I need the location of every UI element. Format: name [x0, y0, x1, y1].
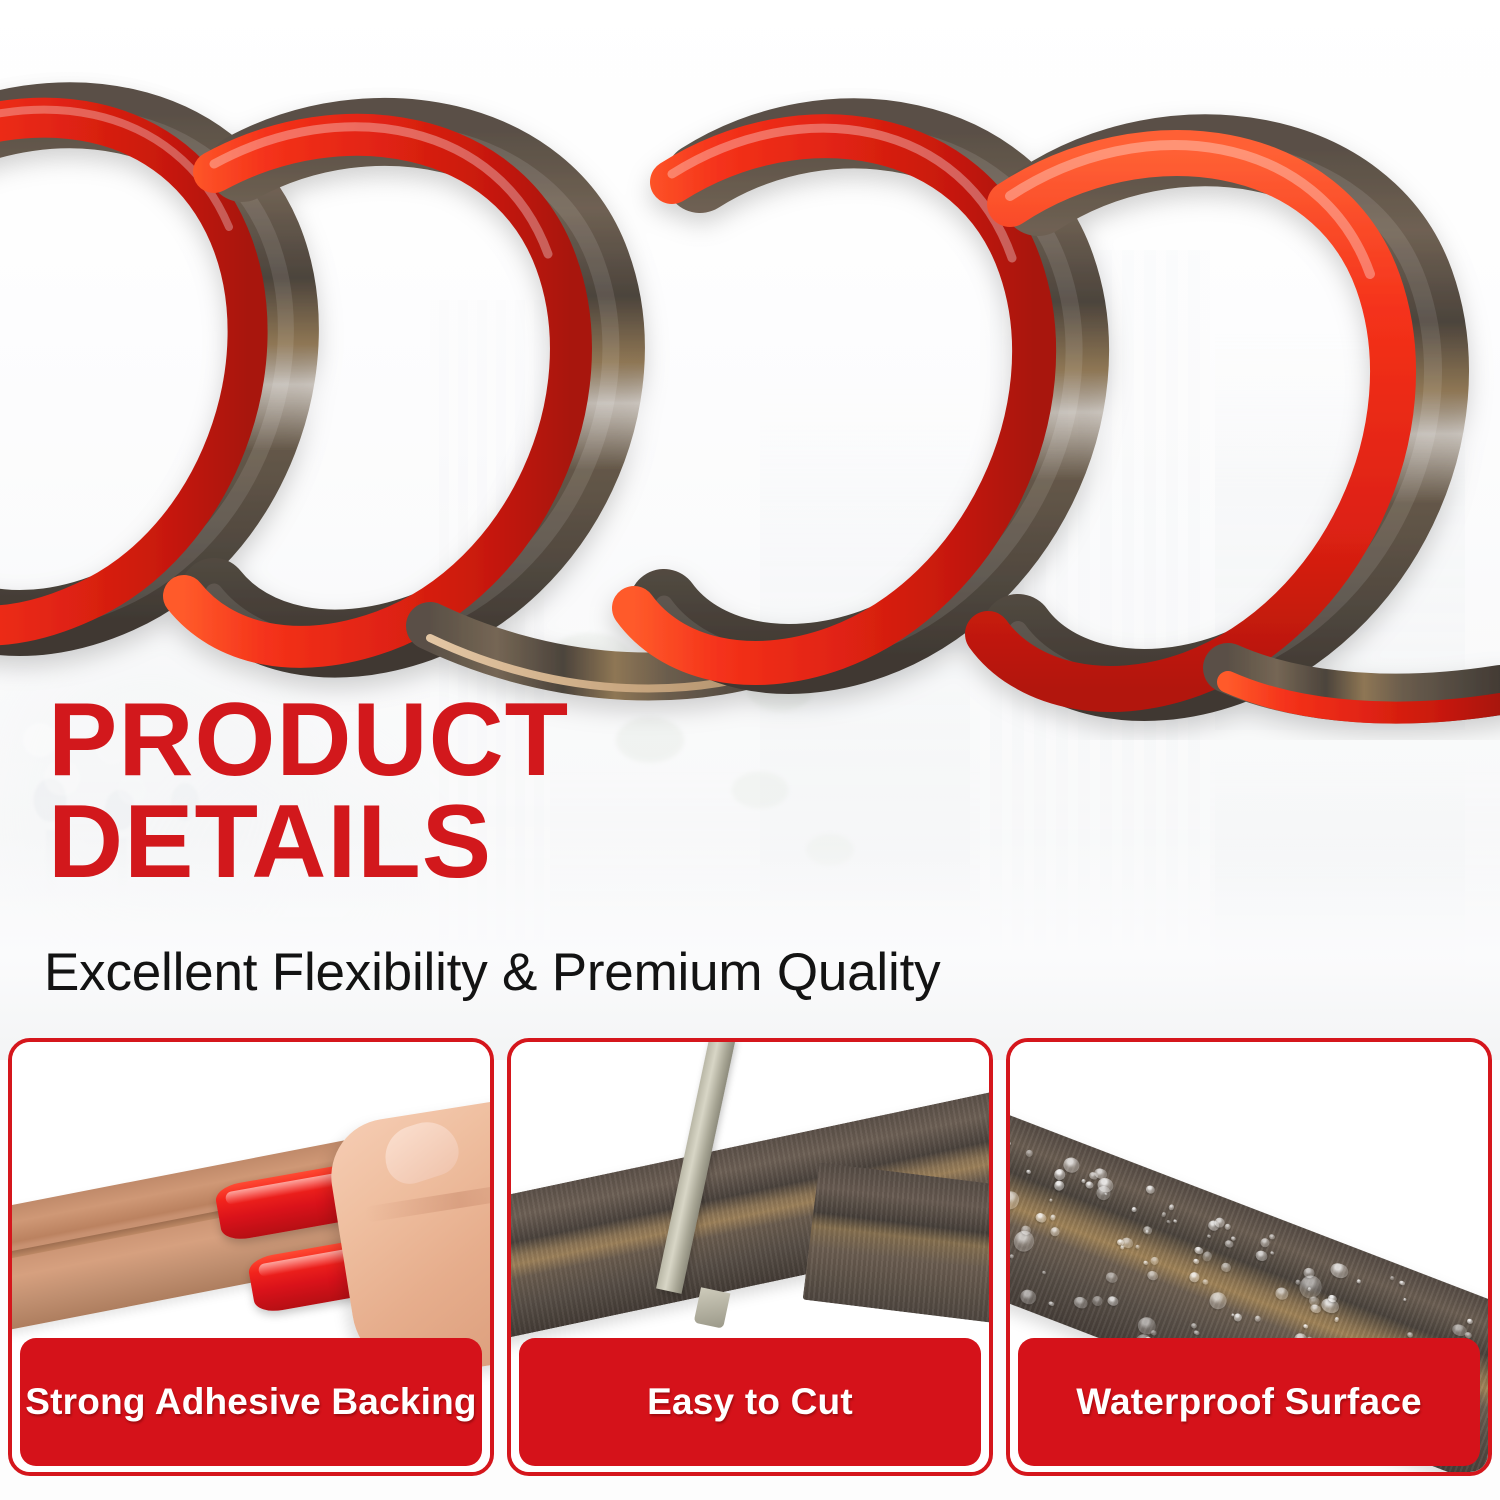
water-droplet — [1403, 1298, 1407, 1301]
water-droplet — [1334, 1317, 1340, 1323]
page-subtitle: Excellent Flexibility & Premium Quality — [44, 942, 940, 1003]
water-droplet — [1168, 1204, 1175, 1211]
hero-coil-image — [0, 0, 1500, 740]
water-droplet — [1356, 1279, 1361, 1283]
feature-panel-row: Strong Adhesive Backing Easy to Cut — [8, 1038, 1492, 1476]
water-droplet — [1042, 1271, 1046, 1275]
water-droplet — [1161, 1211, 1167, 1217]
scissors-blade-tip — [694, 1287, 731, 1328]
water-droplet — [1025, 1149, 1034, 1158]
water-droplet — [1487, 1415, 1488, 1421]
water-droplet — [1273, 1286, 1290, 1302]
water-droplet — [1220, 1261, 1232, 1273]
water-droplet — [1049, 1226, 1061, 1238]
water-droplet — [1329, 1261, 1350, 1280]
wood-grain-strip-right — [803, 1163, 989, 1337]
page-title: PRODUCT DETAILS — [48, 690, 1228, 894]
water-droplet — [1207, 1290, 1229, 1312]
water-droplet — [1048, 1300, 1055, 1306]
water-droplet — [1106, 1295, 1119, 1308]
feature-panel-cut[interactable]: Easy to Cut — [507, 1038, 993, 1476]
water-droplet — [1487, 1426, 1488, 1437]
infographic-canvas: PRODUCT DETAILS Excellent Flexibility & … — [0, 0, 1500, 1500]
water-droplet — [1010, 1141, 1011, 1145]
water-droplet — [1202, 1250, 1214, 1262]
water-droplet — [1085, 1180, 1095, 1189]
water-droplet — [1142, 1225, 1153, 1236]
water-droplet — [1268, 1234, 1275, 1241]
water-droplet — [1466, 1318, 1474, 1325]
water-droplet — [1254, 1315, 1262, 1323]
water-droplet — [1135, 1244, 1140, 1249]
feature-panel-adhesive[interactable]: Strong Adhesive Backing — [8, 1038, 494, 1476]
water-droplet — [1026, 1169, 1032, 1175]
water-droplet — [1269, 1250, 1274, 1255]
water-droplet — [1034, 1212, 1047, 1224]
water-droplet — [1050, 1214, 1057, 1221]
water-droplet — [1145, 1270, 1159, 1282]
feature-caption-text: Easy to Cut — [647, 1381, 853, 1423]
water-droplet — [1072, 1295, 1089, 1310]
water-droplet — [1190, 1322, 1198, 1329]
water-droplet — [1194, 1329, 1201, 1335]
water-droplet — [1131, 1206, 1137, 1212]
feature-caption-waterproof: Waterproof Surface — [1018, 1338, 1480, 1466]
water-droplet — [1399, 1280, 1405, 1286]
feature-caption-cut: Easy to Cut — [519, 1338, 981, 1466]
water-droplet — [1010, 1267, 1012, 1284]
water-droplet — [1018, 1287, 1038, 1306]
water-droplet — [1302, 1323, 1309, 1329]
water-droplet — [1119, 1245, 1124, 1250]
page-title-line-1: PRODUCT — [48, 690, 1228, 792]
water-droplet — [1144, 1184, 1156, 1195]
water-droplet — [1193, 1257, 1201, 1264]
feature-caption-adhesive: Strong Adhesive Backing — [20, 1338, 482, 1466]
water-droplet — [1091, 1295, 1104, 1308]
water-droplet — [1207, 1234, 1212, 1239]
feature-caption-text: Strong Adhesive Backing — [25, 1381, 476, 1423]
water-droplet — [1010, 1254, 1015, 1259]
water-droplet — [1167, 1219, 1172, 1224]
water-droplet — [1143, 1260, 1149, 1266]
water-droplet — [1193, 1245, 1204, 1255]
water-droplet — [1053, 1179, 1066, 1192]
water-droplet — [1188, 1271, 1201, 1283]
water-droplet — [1104, 1270, 1119, 1284]
water-droplet — [1010, 1189, 1021, 1211]
water-droplet — [1150, 1256, 1160, 1266]
water-droplet — [1390, 1275, 1396, 1280]
feature-caption-text: Waterproof Surface — [1076, 1381, 1422, 1423]
water-droplet — [1150, 1329, 1158, 1337]
water-droplet — [1049, 1198, 1053, 1202]
water-droplet — [1224, 1222, 1232, 1230]
water-droplet — [1202, 1278, 1209, 1285]
water-droplet — [1173, 1219, 1178, 1223]
feature-panel-waterproof[interactable]: Waterproof Surface — [1006, 1038, 1492, 1476]
page-title-line-2: DETAILS — [48, 792, 1228, 894]
water-droplet — [1254, 1249, 1269, 1263]
